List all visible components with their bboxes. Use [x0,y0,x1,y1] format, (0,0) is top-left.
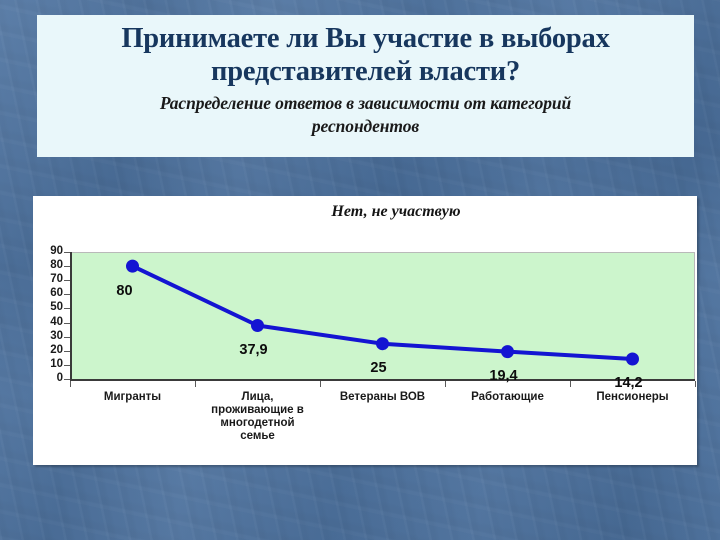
x-axis-tick-mark [695,381,696,387]
x-axis-category-label: Мигранты [64,391,201,404]
y-axis-tick-mark [64,294,70,295]
y-axis-tick-label: 90 [23,246,63,257]
y-axis-tick-label: 20 [23,345,63,356]
y-axis-tick-mark [64,252,70,253]
x-axis-tick-mark [445,381,446,387]
y-axis-tick-label: 10 [23,359,63,370]
slide-title-line-2: представителей власти? [51,55,680,88]
x-axis-category-label: Пенсионеры [564,391,701,404]
slide-canvas: Принимаете ли Вы участие в выборах предс… [0,0,720,540]
y-axis-tick-label: 0 [23,373,63,384]
data-point-label: 19,4 [489,368,517,384]
x-axis-category-label-line: Ветераны ВОВ [314,391,451,404]
slide-title-line-1: Принимаете ли Вы участие в выборах [51,22,680,55]
x-axis-category-label-line: Мигранты [64,391,201,404]
x-axis-category-label-line: многодетной [189,417,326,430]
x-axis-category-label-line: Работающие [439,391,576,404]
x-axis-category-label: Работающие [439,391,576,404]
y-axis-line [70,252,72,380]
chart-panel: Нет, не участвую 9080706050403020100 Миг… [33,196,697,465]
y-axis-tick-labels: 9080706050403020100 [21,196,63,396]
x-axis-category-label: Лица,проживающие вмногодетнойсемье [189,391,326,443]
x-axis-category-label: Ветераны ВОВ [314,391,451,404]
y-axis-tick-label: 80 [23,260,63,271]
y-axis-tick-mark [64,365,70,366]
title-banner: Принимаете ли Вы участие в выборах предс… [37,15,694,157]
x-axis-line [70,379,695,381]
y-axis-tick-mark [64,280,70,281]
y-axis-tick-label: 60 [23,288,63,299]
y-axis-tick-mark [64,323,70,324]
x-axis-category-label-line: проживающие в [189,404,326,417]
x-axis-tick-mark [320,381,321,387]
y-axis-tick-label: 50 [23,302,63,313]
data-point-label: 14,2 [614,375,642,391]
slide-subtitle: Распределение ответов в зависимости от к… [51,92,680,138]
x-axis-category-label-line: Лица, [189,391,326,404]
y-axis-tick-mark [64,266,70,267]
data-point-label: 37,9 [239,342,267,358]
chart-title: Нет, не участвую [33,203,697,221]
x-axis-category-label-line: Пенсионеры [564,391,701,404]
y-axis-tick-mark [64,308,70,309]
data-point-label: 25 [370,360,386,376]
slide-subtitle-line-2: респондентов [51,115,680,138]
x-axis-tick-mark [570,381,571,387]
y-axis-tick-mark [64,351,70,352]
slide-subtitle-line-1: Распределение ответов в зависимости от к… [51,92,680,115]
data-point-label: 80 [116,283,132,299]
y-axis-tick-mark [64,337,70,338]
x-axis-tick-mark [70,381,71,387]
y-axis-tick-label: 40 [23,317,63,328]
y-axis-tick-mark [64,379,70,380]
y-axis-tick-label: 70 [23,274,63,285]
x-axis-tick-mark [195,381,196,387]
x-axis-category-label-line: семье [189,430,326,443]
y-axis-tick-label: 30 [23,331,63,342]
